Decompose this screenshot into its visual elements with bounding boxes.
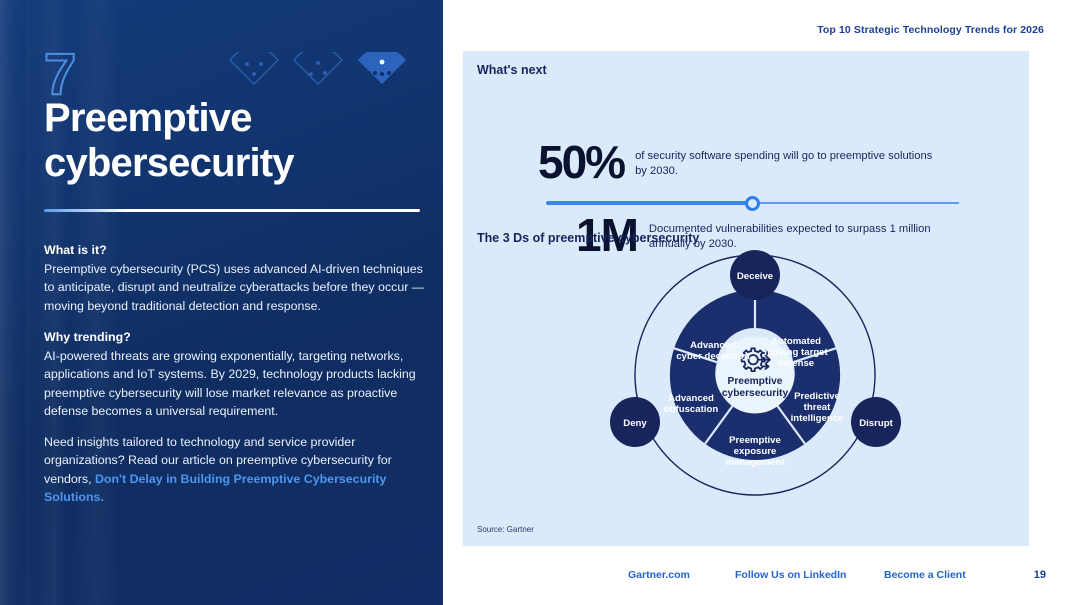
page-number: 19 (1034, 569, 1046, 581)
page-footer: Gartner.com Follow Us on LinkedIn Become… (443, 569, 1080, 587)
slider-fill (546, 201, 753, 205)
section-heading: Why trending? (44, 328, 429, 346)
page-title-line1: Preemptive (44, 96, 424, 141)
cta-link[interactable]: Don't Delay in Building Preemptive Cyber… (44, 472, 386, 504)
section-body: AI-powered threats are growing exponenti… (44, 347, 429, 420)
deck-header: Top 10 Strategic Technology Trends for 2… (817, 24, 1044, 36)
footer-link-linkedin[interactable]: Follow Us on LinkedIn (735, 569, 846, 581)
segment-label: Automated (771, 336, 821, 347)
bg-band (0, 0, 14, 605)
section-body: Preemptive cybersecurity (PCS) uses adva… (44, 260, 429, 315)
segment-label: defense (778, 358, 814, 369)
fan-icon-group (228, 52, 408, 91)
outer-node-disrupt[interactable]: Disrupt (851, 397, 901, 447)
fan-dots-filled-icon (356, 52, 408, 91)
segment-label: Preemptive (729, 435, 781, 446)
segment-label: Advanced (690, 340, 736, 351)
segment-label: obfuscation (664, 404, 719, 415)
three-ds-title: The 3 Ds of preemptive cybersecurity (477, 231, 699, 245)
slider-handle[interactable] (745, 196, 760, 211)
segment-label: intelligence (791, 413, 844, 424)
bg-band (26, 0, 36, 605)
node-label: Deceive (737, 271, 773, 282)
fan-dots-outline-icon (228, 52, 280, 91)
footer-link-gartner[interactable]: Gartner.com (628, 569, 690, 581)
outer-node-deceive[interactable]: Deceive (730, 250, 780, 300)
section-heading: What is it? (44, 241, 429, 259)
page-title-line2: cybersecurity (44, 141, 424, 186)
right-content-area: Top 10 Strategic Technology Trends for 2… (443, 0, 1080, 605)
stat-block-50: 50% of security software spending will g… (538, 141, 935, 185)
segment-label: cyber deception (676, 351, 750, 362)
source-note: Source: Gartner (477, 525, 534, 534)
three-ds-diagram: Preemptive cybersecurity Automated movin… (463, 247, 1029, 532)
node-label: Deny (623, 418, 647, 429)
section-cta: Need insights tailored to technology and… (44, 433, 429, 506)
content-card: What's next 50% of security software spe… (463, 51, 1029, 546)
page-title: Preemptive cybersecurity (44, 96, 424, 186)
left-hero-panel: 7 (0, 0, 443, 605)
outer-node-deny[interactable]: Deny (610, 397, 660, 447)
stat-description: of security software spending will go to… (635, 149, 935, 179)
panel-body-text: What is it? Preemptive cybersecurity (PC… (44, 241, 429, 506)
segment-label: threat (804, 402, 831, 413)
stat-value: 50% (538, 141, 624, 185)
segment-label: Predictive (794, 391, 840, 402)
segment-label: exposure (734, 446, 777, 457)
segment-label: management (725, 457, 785, 468)
section-what-is-it: What is it? Preemptive cybersecurity (PC… (44, 241, 429, 315)
center-label-line2: cybersecurity (722, 388, 789, 399)
segment-label: moving target (764, 347, 828, 358)
footer-link-become-a-client[interactable]: Become a Client (884, 569, 966, 581)
segment-label: Advanced (668, 393, 714, 404)
title-divider (44, 209, 420, 212)
node-label: Disrupt (859, 418, 893, 429)
center-label-line1: Preemptive (728, 376, 783, 387)
section-why-trending: Why trending? AI-powered threats are gro… (44, 328, 429, 420)
fan-dots-outline-icon (292, 52, 344, 91)
whats-next-title: What's next (477, 63, 547, 77)
